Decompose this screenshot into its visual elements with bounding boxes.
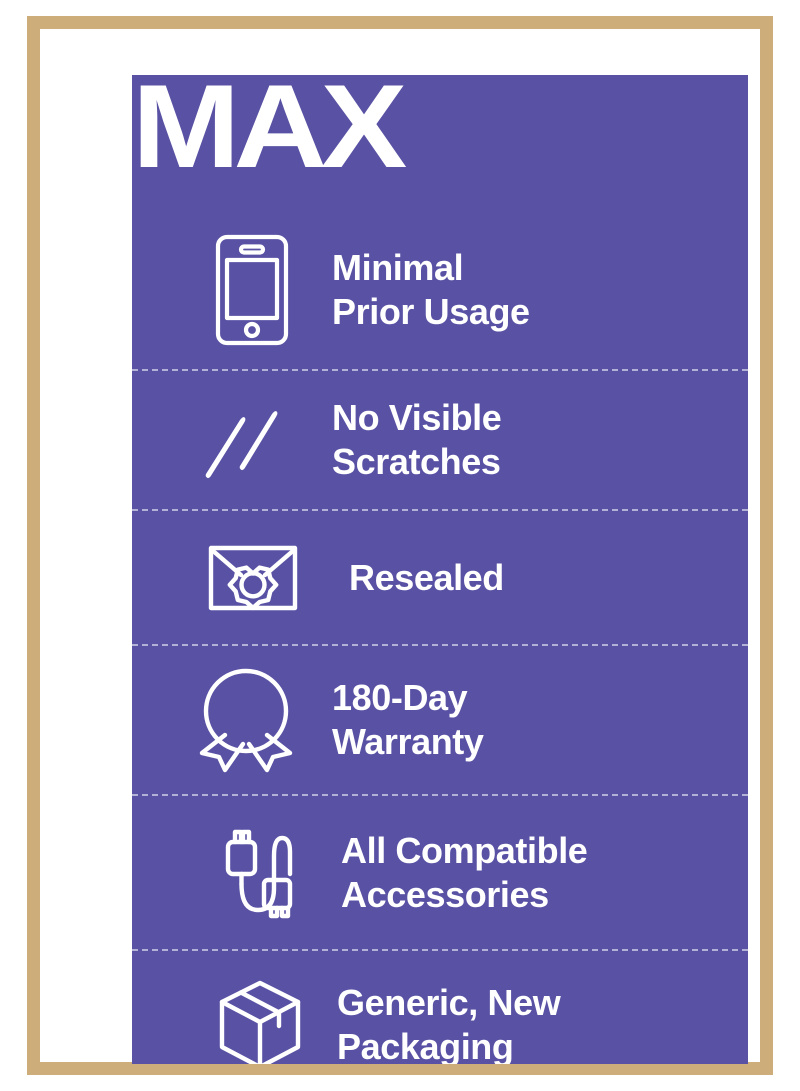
feature-row: Resealed <box>132 511 748 646</box>
white-mat: MAX Minimal Prior Usage <box>40 29 760 1062</box>
feature-row: Minimal Prior Usage <box>132 211 748 371</box>
usb-cable-icon <box>132 822 337 924</box>
decorative-gold-frame: MAX Minimal Prior Usage <box>27 16 773 1075</box>
feature-row: No Visible Scratches <box>132 371 748 511</box>
feature-label: No Visible Scratches <box>332 396 501 484</box>
shipping-box-icon <box>132 979 337 1064</box>
feature-row: All Compatible Accessories <box>132 796 748 951</box>
feature-label: Generic, New Packaging <box>337 981 560 1064</box>
feature-label: 180-Day Warranty <box>332 676 484 764</box>
feature-panel: MAX Minimal Prior Usage <box>132 75 748 1064</box>
brand-title: MAX <box>132 75 401 185</box>
feature-label: Minimal Prior Usage <box>332 246 530 334</box>
sealed-envelope-icon <box>132 543 337 613</box>
award-ribbon-icon <box>132 667 332 773</box>
poster-canvas: MAX Minimal Prior Usage <box>0 0 800 1091</box>
feature-row: Generic, New Packaging <box>132 951 748 1064</box>
feature-list: Minimal Prior Usage No Visible Scratches <box>132 211 748 1064</box>
feature-row: 180-Day Warranty <box>132 646 748 796</box>
feature-label: Resealed <box>337 556 504 600</box>
feature-label: All Compatible Accessories <box>337 829 587 917</box>
scratches-icon <box>132 400 332 480</box>
smartphone-icon <box>132 234 332 346</box>
